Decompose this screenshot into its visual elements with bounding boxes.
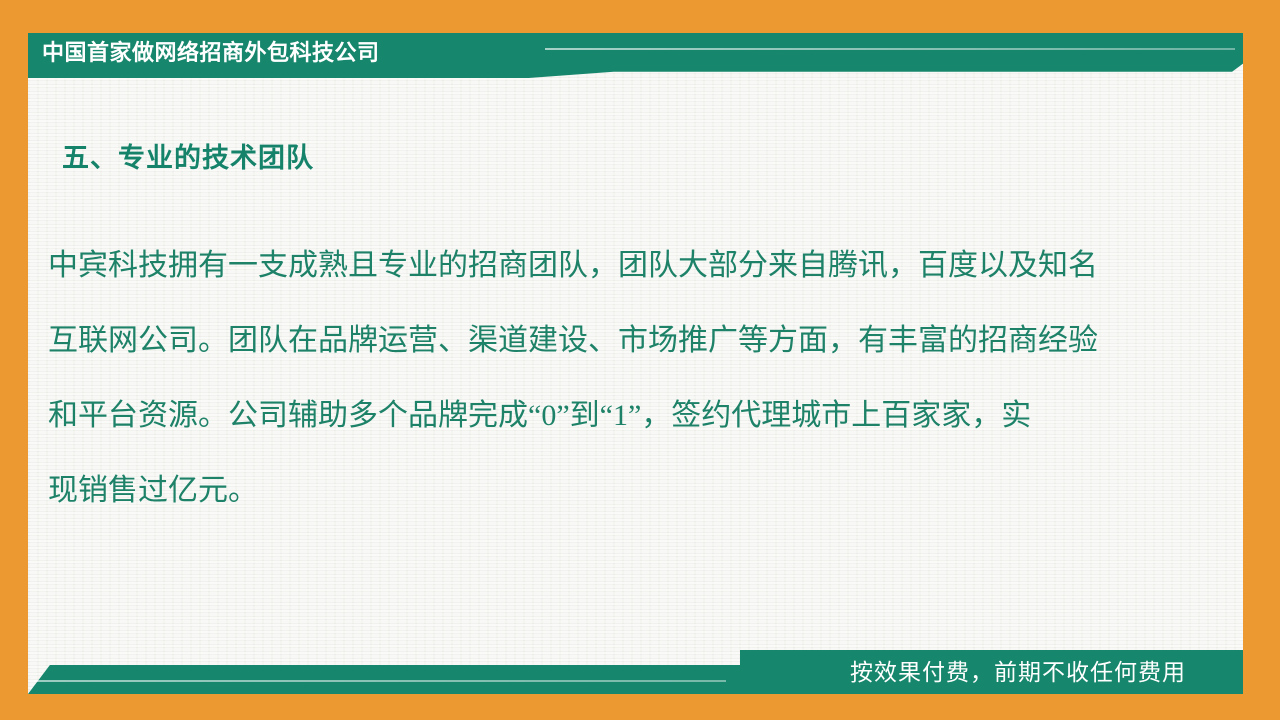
body-line: 中宾科技拥有一支成熟且专业的招商团队，团队大部分来自腾讯，百度以及知名 [48, 228, 1183, 303]
section-heading: 五、专业的技术团队 [62, 136, 314, 175]
frame-border-right [1243, 0, 1280, 720]
body-line: 现销售过亿元。 [48, 453, 1183, 528]
header-title: 中国首家做网络招商外包科技公司 [42, 33, 380, 72]
frame-border-left [0, 0, 28, 720]
header-hairline-decoration [545, 48, 1235, 50]
frame-border-top [0, 0, 1280, 33]
slide-canvas: 中国首家做网络招商外包科技公司 五、专业的技术团队 中宾科技拥有一支成熟且专业的… [0, 0, 1280, 720]
footer-hairline-decoration [34, 680, 726, 682]
body-line: 和平台资源。公司辅助多个品牌完成“0”到“1”，签约代理城市上百家家，实 [48, 378, 1183, 453]
body-line: 互联网公司。团队在品牌运营、渠道建设、市场推广等方面，有丰富的招商经验 [48, 303, 1183, 378]
footer-tagline: 按效果付费，前期不收任何费用 [850, 650, 1186, 694]
frame-border-bottom [0, 694, 1280, 720]
body-paragraph: 中宾科技拥有一支成熟且专业的招商团队，团队大部分来自腾讯，百度以及知名 互联网公… [48, 228, 1183, 528]
